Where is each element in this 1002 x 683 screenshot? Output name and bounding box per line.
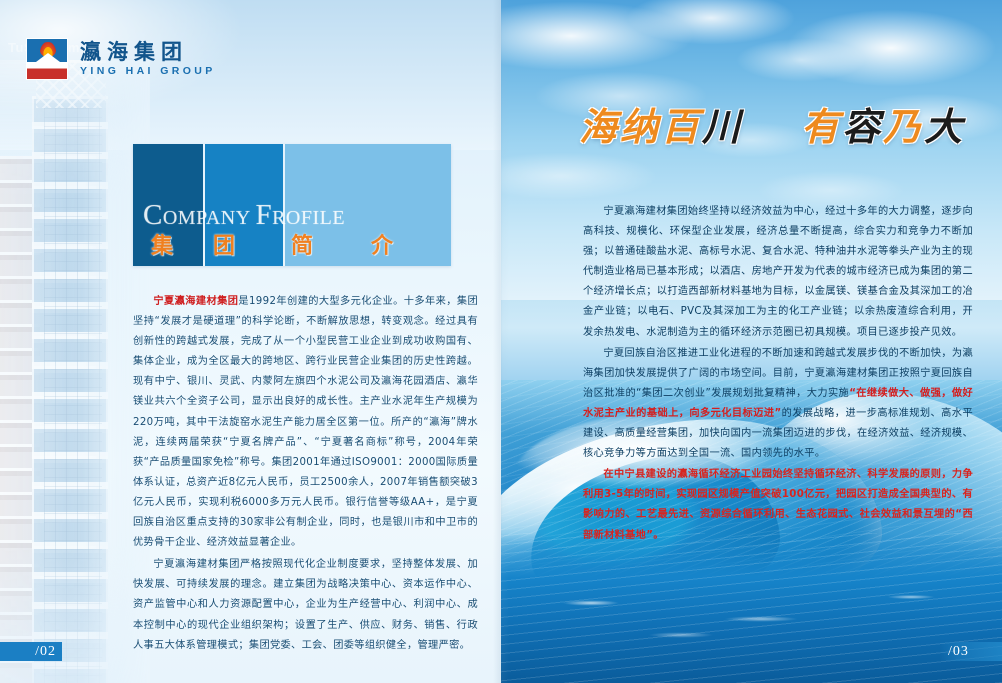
right-paragraph-1: 宁夏瀛海建材集团始终坚持以经济效益为中心，经过十多年的大力调整，逐步向高科技、规…: [583, 202, 973, 343]
calligraphy-char-2: 纳: [620, 108, 658, 146]
page-number-left: /02: [0, 642, 62, 661]
left-paragraph-1-rest: 是1992年创建的大型多元化企业。十多年来，集团坚持“发展才是硬道理”的科学论断…: [133, 296, 478, 548]
highrise-building-photo: [0, 60, 150, 683]
profile-title-initial-f: F: [255, 199, 272, 231]
left-paragraph-1: 宁夏瀛海建材集团是1992年创建的大型多元化企业。十多年来，集团坚持“发展才是硬…: [133, 292, 478, 553]
profile-char-3: 简: [291, 228, 371, 260]
building-low-block: [0, 156, 40, 683]
left-page-body-text: 宁夏瀛海建材集团是1992年创建的大型多元化企业。十多年来，集团坚持“发展才是硬…: [133, 292, 478, 656]
right-page-body-text: 宁夏瀛海建材集团始终坚持以经济效益为中心，经过十多年的大力调整，逐步向高科技、规…: [583, 202, 973, 547]
profile-char-1: 集: [151, 228, 213, 260]
brochure-spread: TuSiji.Com 瀛海集团 YING HAI GROUP COMPANY F…: [0, 0, 1002, 683]
left-page-content: COMPANY FROFILE 集 团 简 介 宁夏瀛海建材集团是1992年创建…: [133, 144, 478, 658]
company-logo[interactable]: 瀛海集团 YING HAI GROUP: [26, 38, 216, 80]
calligraphy-char-7: 乃: [883, 108, 921, 146]
left-page: TuSiji.Com 瀛海集团 YING HAI GROUP COMPANY F…: [0, 0, 501, 683]
building-glass-curtain: [44, 108, 102, 683]
calligraphy-char-5: 有: [801, 108, 839, 146]
right-paragraph-2: 宁夏回族自治区推进工业化进程的不断加速和跨越式发展步伐的不断加快，为瀛海集团加快…: [583, 344, 973, 465]
profile-char-2: 团: [213, 228, 291, 260]
logo-text-group: 瀛海集团 YING HAI GROUP: [80, 42, 216, 77]
emblem-base-bar: [33, 63, 63, 66]
calligraphy-char-3: 百: [661, 108, 699, 146]
profile-char-4: 介: [371, 228, 441, 260]
mountain-flame-emblem-icon: [26, 38, 68, 80]
right-paragraph-3: 在中宁县建设的瀛海循环经济工业园始终坚持循环经济、科学发展的原则，力争利用3-5…: [583, 465, 973, 545]
calligraphy-char-1: 海: [579, 108, 617, 146]
calligraphy-phrase-1: 海 纳 百 川: [579, 108, 743, 146]
profile-chinese-title: 集 团 简 介: [151, 228, 451, 260]
profile-title-initial-c: C: [143, 199, 163, 231]
profile-title-rest-2: ROFILE: [272, 207, 345, 229]
building-tower: [32, 96, 108, 683]
right-page: 海 纳 百 川 有 容 乃 大 宁夏瀛海建材集团始终坚持以经济效益为中心: [501, 0, 1002, 683]
calligraphy-char-6: 容: [842, 108, 880, 146]
profile-title-rest-1: OMPANY: [163, 207, 256, 229]
company-name-highlight: 宁夏瀛海建材集团: [153, 296, 238, 307]
wave-sparkles: [501, 589, 1002, 649]
calligraphy-char-8: 大: [924, 108, 962, 146]
calligraphy-headline: 海 纳 百 川 有 容 乃 大: [579, 108, 979, 146]
calligraphy-char-4: 川: [702, 108, 740, 146]
left-paragraph-2: 宁夏瀛海建材集团严格按照现代化企业制度要求，坚持整体发展、加快发展、可持续发展的…: [133, 555, 478, 655]
company-profile-header-block: COMPANY FROFILE 集 团 简 介: [133, 144, 451, 266]
logo-chinese-name: 瀛海集团: [80, 42, 216, 63]
logo-english-name: YING HAI GROUP: [80, 66, 216, 77]
page-number-right: /03: [940, 642, 1002, 661]
calligraphy-phrase-2: 有 容 乃 大: [801, 108, 965, 146]
